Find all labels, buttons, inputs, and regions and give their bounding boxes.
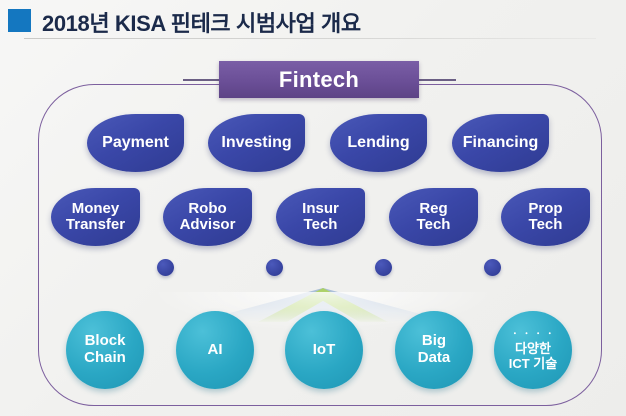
connector-dot-3 bbox=[375, 259, 392, 276]
node-financing[interactable]: Financing bbox=[452, 114, 549, 172]
node-money-transfer-line2: Transfer bbox=[66, 217, 125, 233]
node-reg-tech-line2: Tech bbox=[417, 217, 451, 233]
node-iot-label: IoT bbox=[313, 342, 336, 359]
node-big-data-line2: Data bbox=[418, 350, 451, 367]
node-ai[interactable]: AI bbox=[176, 311, 254, 389]
node-other-ict[interactable]: ㆍㆍㆍㆍ 다양한 ICT 기술 bbox=[494, 311, 572, 389]
node-robo-advisor-line1: Robo bbox=[180, 201, 236, 217]
header-marker-icon bbox=[8, 9, 31, 32]
node-block-chain-line1: Block bbox=[85, 333, 126, 350]
node-ai-label: AI bbox=[208, 342, 223, 359]
node-insur-tech-line1: Insur bbox=[302, 201, 339, 217]
node-reg-tech[interactable]: Reg Tech bbox=[389, 188, 478, 246]
node-money-transfer-line1: Money bbox=[66, 201, 125, 217]
node-big-data[interactable]: Big Data bbox=[395, 311, 473, 389]
fintech-connector-right bbox=[416, 79, 456, 81]
fintech-title-box: Fintech bbox=[219, 61, 419, 98]
node-lending-label: Lending bbox=[347, 134, 409, 151]
node-insur-tech-line2: Tech bbox=[302, 217, 339, 233]
connector-dot-1 bbox=[157, 259, 174, 276]
node-investing-label: Investing bbox=[221, 134, 291, 151]
fintech-connector-left bbox=[183, 79, 223, 81]
node-big-data-line1: Big bbox=[422, 333, 446, 350]
node-prop-tech[interactable]: Prop Tech bbox=[501, 188, 590, 246]
node-other-ict-line1: 다양한 bbox=[515, 342, 551, 357]
node-other-ict-ellipsis: ㆍㆍㆍㆍ bbox=[510, 329, 556, 340]
node-robo-advisor-line2: Advisor bbox=[180, 217, 236, 233]
node-investing[interactable]: Investing bbox=[208, 114, 305, 172]
node-block-chain-line2: Chain bbox=[84, 350, 126, 367]
node-payment-label: Payment bbox=[102, 134, 169, 151]
node-money-transfer[interactable]: Money Transfer bbox=[51, 188, 140, 246]
node-block-chain[interactable]: Block Chain bbox=[66, 311, 144, 389]
node-financing-label: Financing bbox=[463, 134, 539, 151]
connector-dot-2 bbox=[266, 259, 283, 276]
node-lending[interactable]: Lending bbox=[330, 114, 427, 172]
node-prop-tech-line2: Tech bbox=[528, 217, 562, 233]
node-payment[interactable]: Payment bbox=[87, 114, 184, 172]
node-prop-tech-line1: Prop bbox=[528, 201, 562, 217]
node-robo-advisor[interactable]: Robo Advisor bbox=[163, 188, 252, 246]
node-other-ict-line2: ICT 기술 bbox=[509, 357, 557, 372]
header-divider bbox=[24, 38, 596, 39]
connector-dot-4 bbox=[484, 259, 501, 276]
slide-canvas: 2018년 KISA 핀테크 시범사업 개요 Fintech Payment I… bbox=[0, 0, 626, 416]
node-insur-tech[interactable]: Insur Tech bbox=[276, 188, 365, 246]
node-iot[interactable]: IoT bbox=[285, 311, 363, 389]
node-reg-tech-line1: Reg bbox=[417, 201, 451, 217]
fintech-title-label: Fintech bbox=[279, 67, 359, 93]
page-title: 2018년 KISA 핀테크 시범사업 개요 bbox=[42, 6, 361, 38]
